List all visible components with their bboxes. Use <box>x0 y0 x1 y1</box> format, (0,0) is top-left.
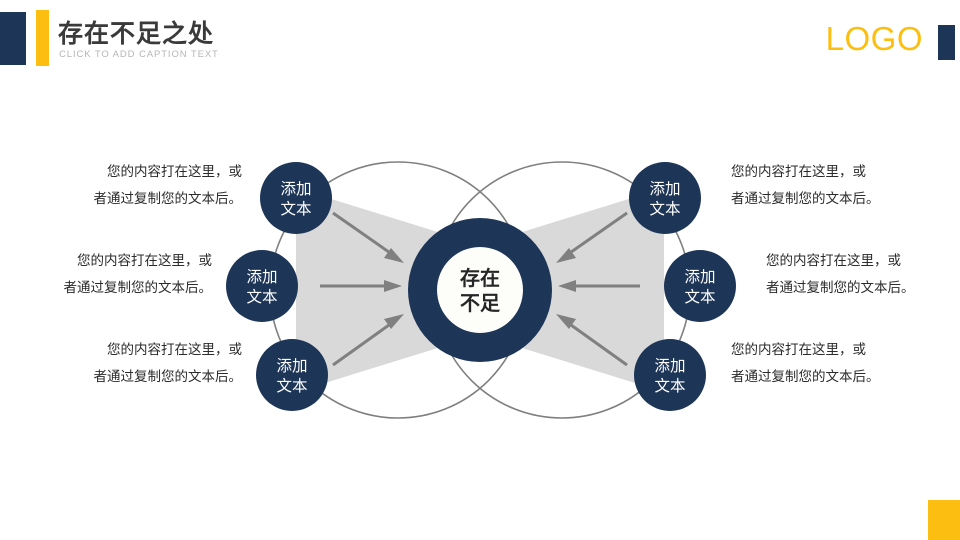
description-left-middle[interactable]: 您的内容打在这里，或 者通过复制您的文本后。 <box>64 252 213 295</box>
node-right-top-label-line1: 添加 <box>649 180 680 198</box>
description-right-bottom-line1: 您的内容打在这里，或 <box>731 341 866 357</box>
description-right-top[interactable]: 您的内容打在这里，或 者通过复制您的文本后。 <box>731 163 880 206</box>
node-left-bottom[interactable]: 添加 文本 <box>256 339 328 411</box>
page-caption[interactable]: CLICK TO ADD CAPTION TEXT <box>59 49 219 60</box>
footer-yellow-accent-square <box>928 500 960 540</box>
node-right-bottom-label-line2: 文本 <box>654 377 685 395</box>
node-left-bottom-label-line2: 文本 <box>276 377 307 395</box>
page-title: 存在不足之处 <box>58 14 214 50</box>
logo-navy-accent-block <box>938 25 955 60</box>
description-left-middle-line1: 您的内容打在这里，或 <box>77 252 212 268</box>
node-left-top-label-line2: 文本 <box>280 200 311 218</box>
node-right-top-circle <box>629 162 701 234</box>
center-node-label-line1: 存在 <box>460 266 500 290</box>
description-left-bottom[interactable]: 您的内容打在这里，或 者通过复制您的文本后。 <box>94 341 243 384</box>
node-right-middle-circle <box>664 250 736 322</box>
node-right-bottom[interactable]: 添加 文本 <box>634 339 706 411</box>
logo: LOGO <box>826 22 923 55</box>
description-right-top-line1: 您的内容打在这里，或 <box>731 163 866 179</box>
node-left-top[interactable]: 添加 文本 <box>260 162 332 234</box>
description-left-bottom-line2: 者通过复制您的文本后。 <box>94 368 243 384</box>
description-right-middle-line2: 者通过复制您的文本后。 <box>766 279 915 295</box>
node-left-top-label-line1: 添加 <box>280 180 311 198</box>
node-right-middle[interactable]: 添加 文本 <box>664 250 736 322</box>
description-right-bottom-line2: 者通过复制您的文本后。 <box>731 368 880 384</box>
center-node[interactable]: 存在 不足 <box>408 218 552 362</box>
node-right-middle-label-line1: 添加 <box>684 268 715 286</box>
node-left-top-circle <box>260 162 332 234</box>
description-left-top-line1: 您的内容打在这里，或 <box>107 163 242 179</box>
slide-header: 存在不足之处 CLICK TO ADD CAPTION TEXT LOGO <box>0 0 960 80</box>
header-yellow-accent-bar <box>36 10 49 66</box>
node-right-top[interactable]: 添加 文本 <box>629 162 701 234</box>
node-left-bottom-circle <box>256 339 328 411</box>
node-left-middle-label-line1: 添加 <box>246 268 277 286</box>
header-navy-accent-block <box>0 12 26 65</box>
description-right-middle[interactable]: 您的内容打在这里，或 者通过复制您的文本后。 <box>766 252 915 295</box>
node-left-middle-label-line2: 文本 <box>246 288 277 306</box>
node-left-middle[interactable]: 添加 文本 <box>226 250 298 322</box>
node-right-middle-label-line2: 文本 <box>684 288 715 306</box>
center-node-inner <box>437 247 523 333</box>
description-right-top-line2: 者通过复制您的文本后。 <box>731 190 880 206</box>
description-left-top[interactable]: 您的内容打在这里，或 者通过复制您的文本后。 <box>94 163 243 206</box>
node-right-top-label-line2: 文本 <box>649 200 680 218</box>
description-left-bottom-line1: 您的内容打在这里，或 <box>107 341 242 357</box>
description-right-bottom[interactable]: 您的内容打在这里，或 者通过复制您的文本后。 <box>731 341 880 384</box>
node-right-bottom-label-line1: 添加 <box>654 357 685 375</box>
diagram-canvas: 存在 不足 添加 文本 添加 文本 添加 文本 <box>0 80 960 480</box>
description-left-top-line2: 者通过复制您的文本后。 <box>94 190 243 206</box>
node-right-bottom-circle <box>634 339 706 411</box>
node-left-middle-circle <box>226 250 298 322</box>
node-left-bottom-label-line1: 添加 <box>276 357 307 375</box>
description-right-middle-line1: 您的内容打在这里，或 <box>766 252 901 268</box>
description-left-middle-line2: 者通过复制您的文本后。 <box>64 279 213 295</box>
center-node-label-line2: 不足 <box>460 293 501 315</box>
